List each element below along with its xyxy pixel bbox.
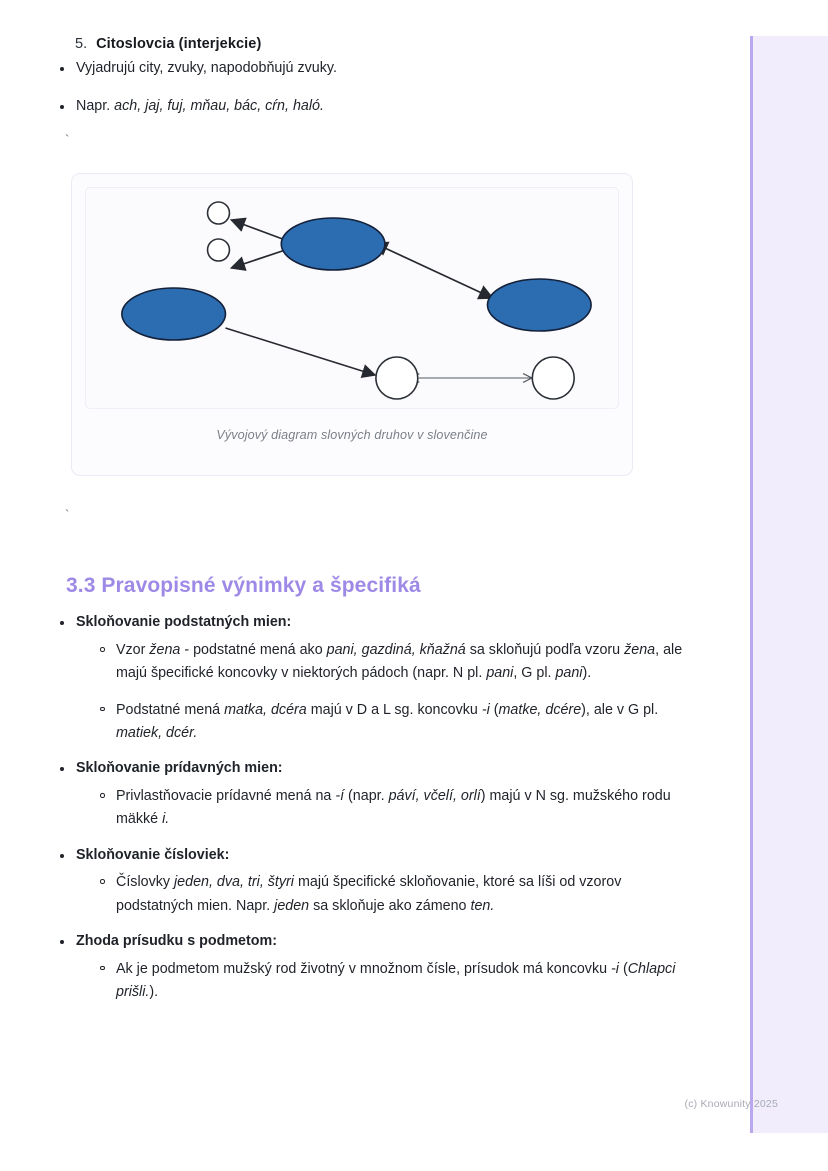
backtick-marker-top: ` xyxy=(65,133,694,147)
list-item: Číslovky jeden, dva, tri, štyri majú špe… xyxy=(96,871,694,918)
arrow-ellipse-to-circle-1 xyxy=(231,220,285,240)
list-item: Privlastňovacie prídavné mená na -í (nap… xyxy=(96,785,694,832)
diagram-caption: Vývojový diagram slovných druhov v slove… xyxy=(85,428,619,442)
node-ellipse-right xyxy=(487,279,591,331)
list-number: 5. xyxy=(75,36,87,52)
document-page: 5. Citoslovcia (interjekcie) Vyjadrujú c… xyxy=(0,0,750,1171)
list-item: Ak je podmetom mužský rod životný v množ… xyxy=(96,958,694,1005)
node-circle-center xyxy=(376,357,418,399)
rule-label: Skloňovanie prídavných mien: xyxy=(76,758,694,780)
list-item: Napr. ach, jaj, fuj, mňau, bác, cŕn, hal… xyxy=(56,96,694,118)
list-heading-text: Citoslovcia (interjekcie) xyxy=(96,36,261,52)
interjection-bullet-list: Vyjadrujú city, zvuky, napodobňujú zvuky… xyxy=(56,58,694,117)
list-item: Podstatné mená matka, dcéra majú v D a L… xyxy=(96,699,694,746)
node-ellipse-top xyxy=(281,218,385,270)
right-side-strip xyxy=(750,36,828,1133)
rule-group-numerals: Skloňovanie čísloviek: Číslovky jeden, d… xyxy=(56,845,694,918)
section-heading-3-3: 3.3 Pravopisné výnimky a špecifiká xyxy=(66,574,694,598)
page-footer: (c) Knowunity 2025 xyxy=(0,1098,778,1110)
node-small-circle-1 xyxy=(208,202,230,224)
rule-label: Skloňovanie podstatných mien: xyxy=(76,612,694,634)
rule-group-nouns: Skloňovanie podstatných mien: Vzor žena … xyxy=(56,612,694,745)
rule-label: Zhoda prísudku s podmetom: xyxy=(76,931,694,953)
rules-list: Skloňovanie podstatných mien: Vzor žena … xyxy=(56,612,694,1004)
rule-sublist: Číslovky jeden, dva, tri, štyri majú špe… xyxy=(96,871,694,918)
flowchart-svg xyxy=(86,188,618,408)
node-ellipse-left xyxy=(122,288,226,340)
node-circle-right xyxy=(532,357,574,399)
diagram-card: Vývojový diagram slovných druhov v slove… xyxy=(71,173,633,476)
example-words: ach, jaj, fuj, mňau, bác, cŕn, haló. xyxy=(114,98,324,114)
arrow-left-ellipse-to-circle xyxy=(225,328,374,375)
rule-sublist: Vzor žena - podstatné mená ako pani, gaz… xyxy=(96,639,694,745)
list-item: Vzor žena - podstatné mená ako pani, gaz… xyxy=(96,639,694,686)
rule-sublist: Privlastňovacie prídavné mená na -í (nap… xyxy=(96,785,694,832)
rule-sublist: Ak je podmetom mužský rod životný v množ… xyxy=(96,958,694,1005)
node-small-circle-2 xyxy=(208,239,230,261)
rule-group-adjectives: Skloňovanie prídavných mien: Privlastňov… xyxy=(56,758,694,831)
rule-label: Skloňovanie čísloviek: xyxy=(76,845,694,867)
arrow-top-to-right-ellipse xyxy=(385,248,493,298)
diagram-canvas xyxy=(85,187,619,409)
numbered-heading-5: 5. Citoslovcia (interjekcie) xyxy=(75,36,694,52)
list-item: Vyjadrujú city, zvuky, napodobňujú zvuky… xyxy=(56,58,694,80)
backtick-marker-bottom: ` xyxy=(65,508,694,522)
bullet-text: Vyjadrujú city, zvuky, napodobňujú zvuky… xyxy=(76,60,337,76)
rule-group-agreement: Zhoda prísudku s podmetom: Ak je podmeto… xyxy=(56,931,694,1004)
arrow-ellipse-to-circle-2 xyxy=(231,250,285,268)
